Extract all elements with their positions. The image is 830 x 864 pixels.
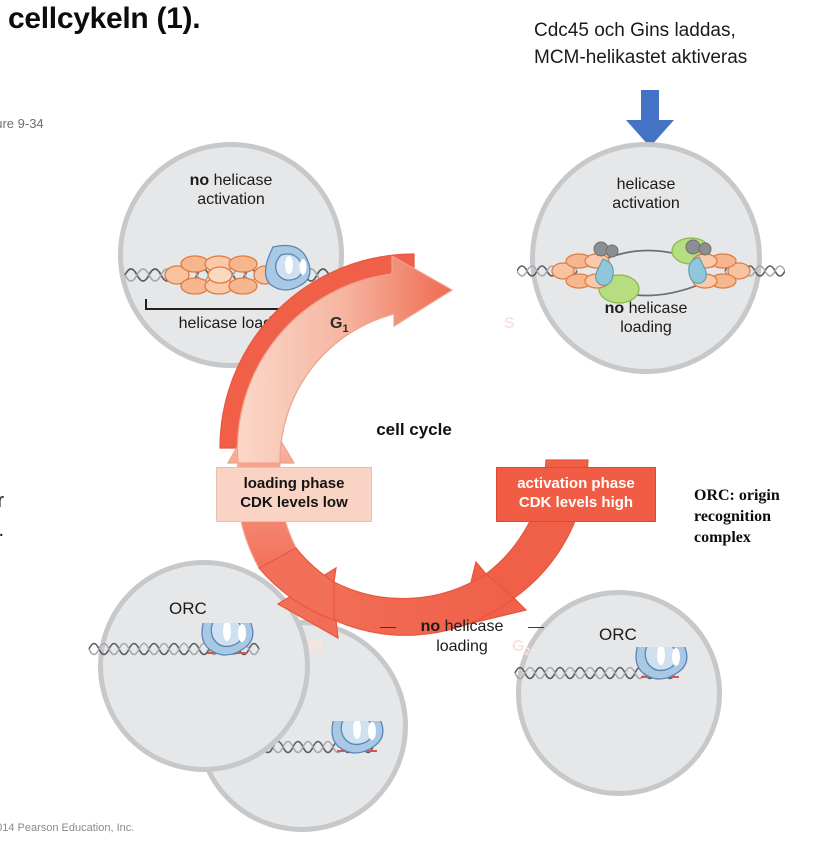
leader-line-right [528, 627, 544, 628]
page-title: cellcykeln (1). [8, 2, 200, 36]
orc-label: ORC [169, 599, 207, 619]
annotation-top-right: Cdc45 och Gins laddas, MCM-helikastet ak… [534, 18, 830, 72]
slide-canvas: cellcykeln (1). gure 9-34 Cdc45 och Gins… [0, 0, 830, 864]
phase-box-loading: loading phase CDK levels low [216, 467, 372, 522]
leader-line-left [380, 627, 396, 628]
label-line-activation: activation [535, 194, 757, 213]
cycle-center-label: cell cycle [214, 420, 614, 440]
loading-box-line-2: CDK levels low [227, 494, 361, 513]
cell-cycle-ring-diagram [214, 248, 614, 648]
callout-line-loading: loading [398, 637, 526, 657]
activation-box-line-2: CDK levels high [507, 494, 645, 513]
callout-bold-no: no [421, 618, 441, 635]
figure-cell-cycle-licensing: no helicase activation [0, 120, 830, 820]
callout-no-helicase-loading: no helicase loading [398, 617, 526, 656]
callout-rest-helicase: helicase [440, 618, 503, 635]
cell-label-no-helicase-activation: no helicase activation [123, 171, 339, 209]
label-line-helicase: helicase [535, 175, 757, 194]
label-line-activation: activation [123, 190, 339, 209]
cell-label-helicase-activation: helicase activation [535, 175, 757, 213]
activation-box-line-1: activation phase [507, 475, 645, 494]
diagram-orc-on-dna-g2 [513, 647, 725, 691]
annotation-top-line-1: Cdc45 och Gins laddas, [534, 18, 830, 45]
phase-box-activation: activation phase CDK levels high [496, 467, 656, 522]
loading-box-line-1: loading phase [227, 475, 361, 494]
label-rest-helicase: helicase [209, 172, 272, 189]
annotation-top-line-2: MCM-helikastet aktiveras [534, 45, 830, 72]
copyright-notice: 2014 Pearson Education, Inc. [0, 822, 134, 834]
label-bold-no: no [190, 172, 210, 189]
